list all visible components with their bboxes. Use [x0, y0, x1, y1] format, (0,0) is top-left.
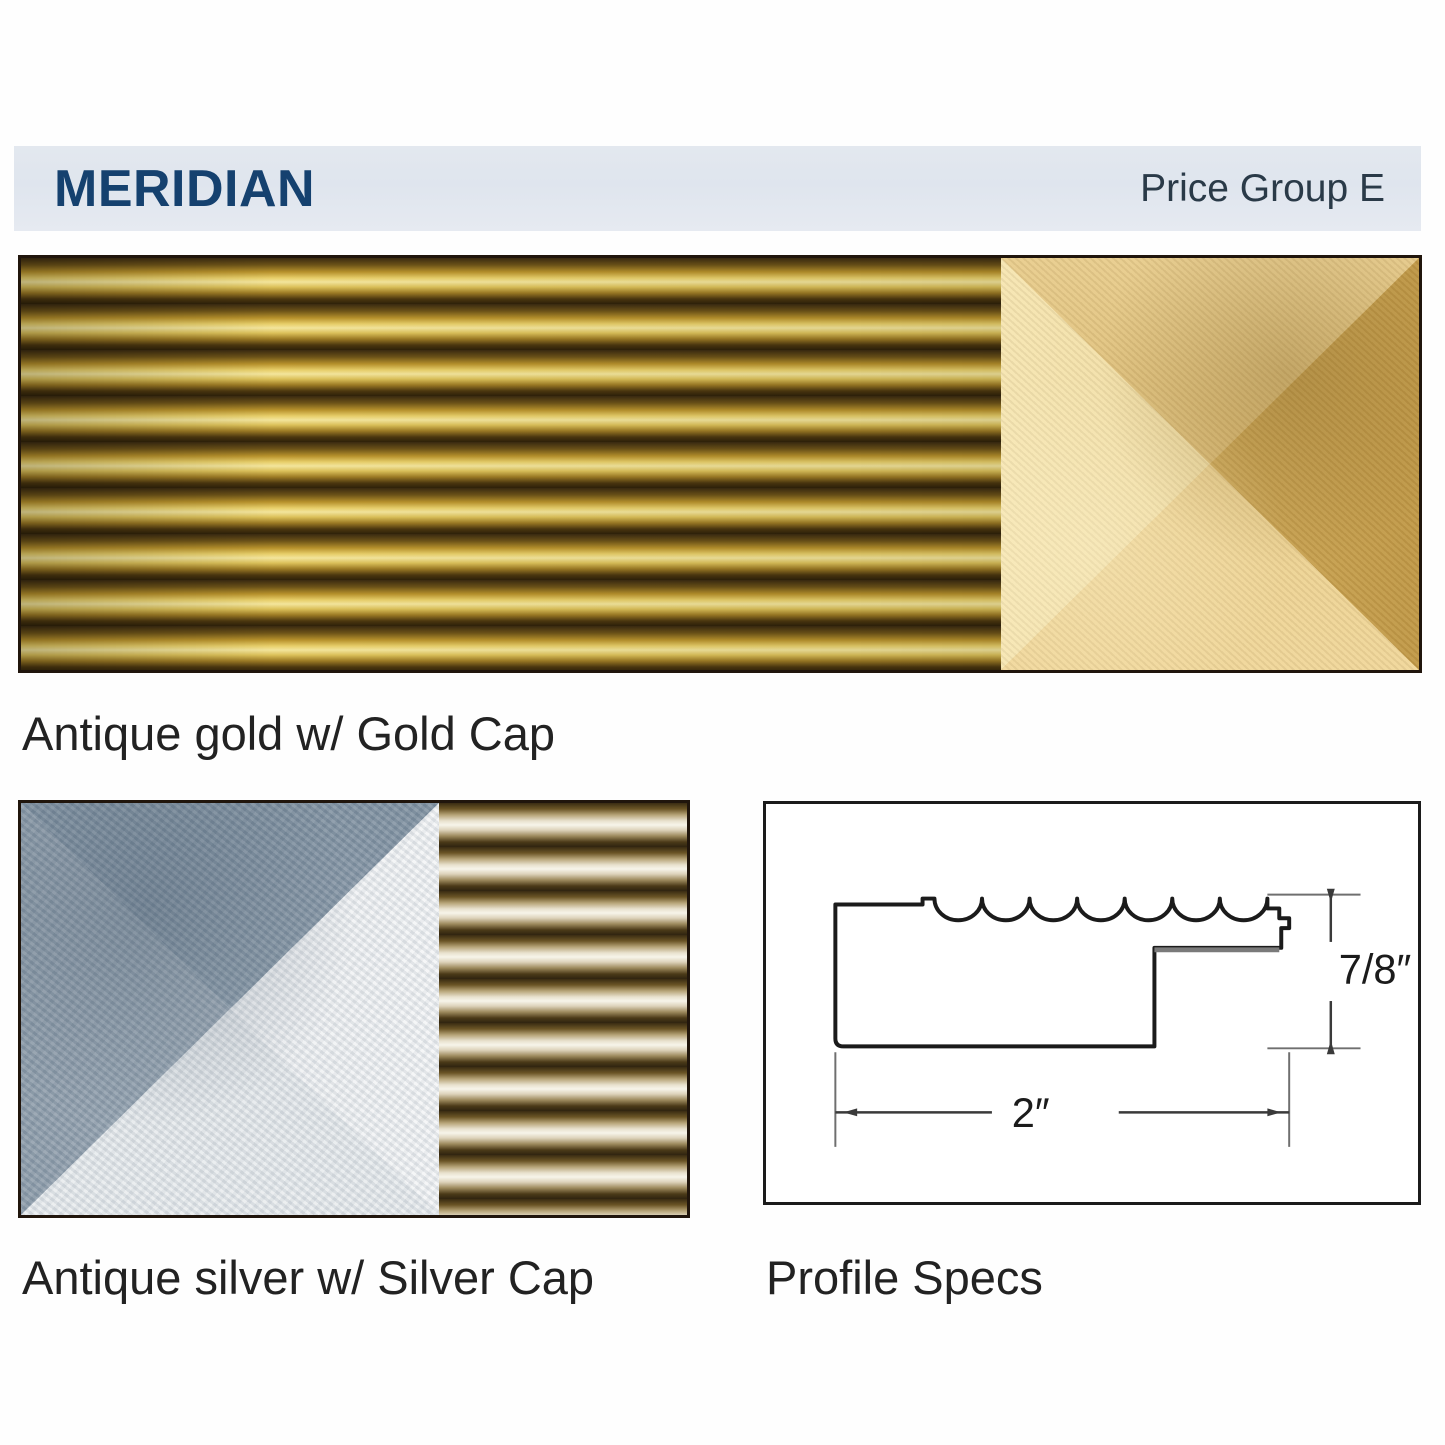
sample-image-gold — [18, 255, 1422, 673]
fluted-moulding-silver — [439, 803, 687, 1215]
price-group-label: Price Group E — [1140, 169, 1385, 208]
moulding-profile-outline — [835, 899, 1289, 1047]
profile-spec-panel: 7/8″ 2″ — [763, 801, 1421, 1205]
width-arrow-left — [843, 1108, 857, 1116]
profile-cross-section-drawing: 7/8″ 2″ — [766, 804, 1418, 1202]
width-dimension-label: 2″ — [1012, 1089, 1050, 1136]
caption-gold-sample: Antique gold w/ Gold Cap — [22, 706, 555, 761]
caption-silver-sample: Antique silver w/ Silver Cap — [22, 1250, 594, 1305]
product-header-bar: MERIDIAN Price Group E — [14, 146, 1421, 231]
corner-cap-silver — [21, 803, 439, 1215]
width-arrow-right — [1267, 1108, 1281, 1116]
corner-cap-gold — [1001, 258, 1419, 670]
height-dimension-label: 7/8″ — [1339, 945, 1412, 992]
caption-profile-specs: Profile Specs — [766, 1250, 1043, 1305]
sample-image-silver — [18, 800, 690, 1218]
page-title: MERIDIAN — [54, 163, 315, 215]
catalog-page: MERIDIAN Price Group E Antique gold w/ G… — [0, 0, 1445, 1445]
